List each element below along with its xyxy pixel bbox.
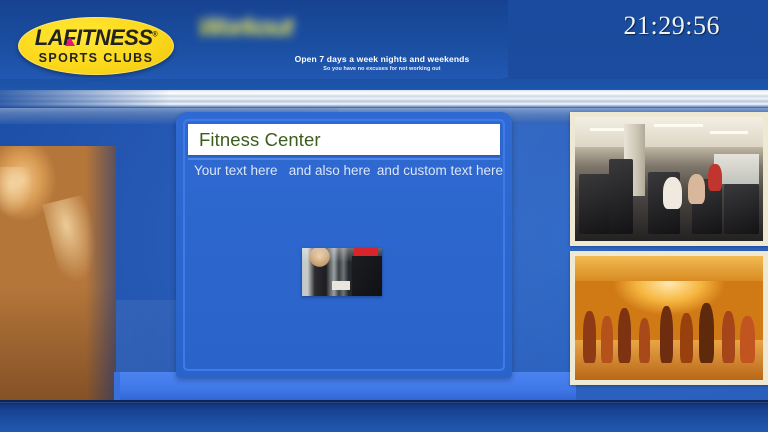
signage-stage: Workout Workout LAFITNESS® SPORTS CLUBS … [0, 0, 768, 432]
custom-text-1: Your text here [194, 163, 289, 178]
gym-person-3 [708, 164, 721, 191]
aerobics-figure-8 [722, 311, 735, 363]
tagline-secondary: So you have no excuses for not working o… [282, 66, 482, 72]
gym-person-1 [663, 177, 682, 209]
gym-cardio-photo-frame [570, 112, 768, 246]
motion-text: Workout [198, 14, 292, 43]
page-title: Fitness Center [199, 129, 321, 151]
aerobics-figure-1 [583, 311, 596, 363]
gym-cardio-photo-scene [575, 117, 763, 241]
bodybuilder-highlight-head [0, 167, 33, 217]
bodybuilder-photo [0, 146, 116, 404]
custom-text-3: and custom text here [377, 163, 503, 178]
photo-thumbnail-figure [352, 256, 382, 296]
aerobics-figure-5 [660, 306, 673, 363]
logo-wordmark-text: LAFITNESS [35, 25, 153, 50]
aerobics-figure-6 [680, 313, 693, 363]
tagline-block: Open 7 days a week nights and weekends S… [282, 54, 482, 72]
bottom-bar [0, 402, 768, 432]
gym-light-3 [710, 131, 748, 134]
gym-person-2 [688, 174, 705, 204]
aerobics-figure-3 [618, 308, 631, 363]
gym-machine-5 [724, 184, 760, 234]
aerobics-class-photo [575, 256, 763, 380]
content-panel[interactable]: Fitness Center Your text here and also h… [176, 112, 512, 378]
aerobics-figure-9 [740, 316, 755, 363]
gym-cardio-photo [575, 117, 763, 241]
aerobics-figure-4 [639, 318, 650, 363]
bodybuilder-edge-fade [86, 146, 116, 404]
logo-subtitle: SPORTS CLUBS [39, 52, 154, 65]
logo-registered-mark: ® [153, 32, 158, 39]
content-panel-inner: Fitness Center Your text here and also h… [183, 119, 505, 371]
aerobics-ceiling [575, 256, 763, 281]
custom-text-2: and also here [289, 163, 377, 178]
tagline-primary: Open 7 days a week nights and weekends [282, 54, 482, 64]
photo-thumbnail-light-accent [332, 281, 350, 290]
clock-display: 21:29:56 [624, 11, 720, 41]
aerobics-class-photo-frame [570, 251, 768, 385]
logo-triangle-icon [65, 37, 75, 46]
logo-wordmark: LAFITNESS® [35, 27, 157, 49]
photo-thumbnail[interactable] [302, 248, 382, 296]
aerobics-figure-2 [601, 316, 612, 363]
panel-title-bar: Fitness Center [188, 124, 500, 155]
gym-machine-2 [609, 159, 633, 233]
custom-text-row: Your text here and also here and custom … [185, 163, 503, 178]
aerobics-class-photo-scene [575, 256, 763, 380]
title-underline [188, 158, 500, 160]
aerobics-figure-7 [699, 303, 714, 363]
photo-column [570, 112, 768, 385]
la-fitness-logo: LAFITNESS® SPORTS CLUBS [18, 17, 174, 75]
gym-light-2 [654, 124, 703, 127]
